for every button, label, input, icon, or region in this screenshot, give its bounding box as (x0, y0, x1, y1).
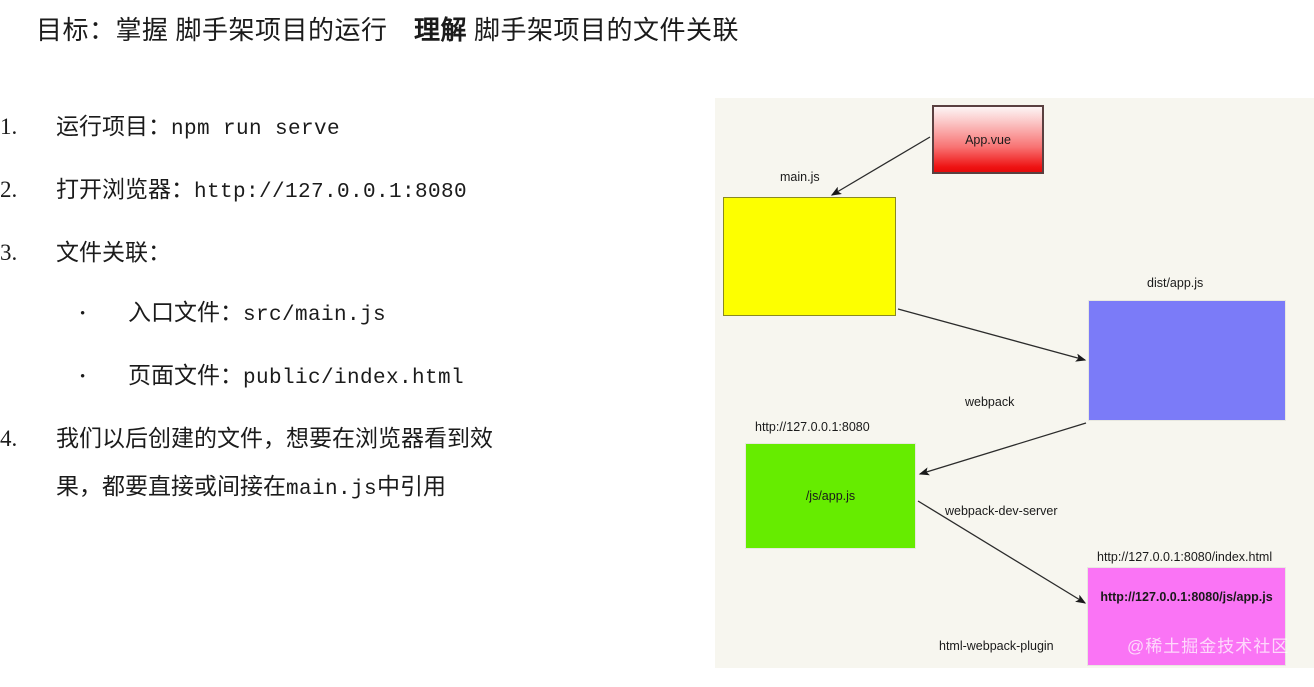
list-item-text-wrap: 果，都要直接或间接在main.js中引用 (56, 470, 493, 507)
diagram-edge-label-webpack: webpack (965, 395, 1014, 409)
list-item-marker: 1. (0, 110, 56, 144)
list-item-text: 入口文件：src/main.js (128, 296, 386, 333)
list-item-text-code: public/index.html (243, 367, 464, 390)
arrow-mainjs-to-dist (898, 309, 1085, 360)
diagram-caption-index-html: http://127.0.0.1:8080/index.html (1097, 550, 1272, 564)
watermark: @稀土掘金技术社区 (1127, 632, 1289, 657)
diagram-node-js-app-js-label: /js/app.js (806, 489, 855, 503)
diagram-node-app-vue[interactable]: App.vue (932, 105, 1044, 174)
diagram-node-dist-app-js[interactable] (1088, 300, 1286, 421)
list-item-text: 文件关联： (56, 236, 171, 270)
page-title: 目标：掌握 脚手架项目的运行 理解 脚手架项目的文件关联 (36, 10, 739, 47)
list-item-sub: • 入口文件：src/main.js (0, 296, 690, 333)
diagram-node-app-vue-label: App.vue (965, 133, 1011, 147)
list-item-text-code: src/main.js (243, 304, 386, 327)
diagram-edge-label-html-webpack-plugin: html-webpack-plugin (939, 639, 1054, 653)
diagram-node-main-js[interactable] (723, 197, 896, 316)
list-item-text: 页面文件：public/index.html (128, 359, 464, 396)
outline-list: 1. 运行项目：npm run serve 2. 打开浏览器：http://12… (0, 110, 690, 533)
list-item-sub: • 页面文件：public/index.html (0, 359, 690, 396)
list-item-marker: 3. (0, 236, 56, 270)
list-item-text-cn: 运行项目： (56, 114, 171, 139)
diagram-node-js-app-js[interactable]: /js/app.js (745, 443, 916, 549)
page-title-gap (388, 16, 415, 45)
list-item-bullet-icon: • (80, 359, 128, 395)
list-item-text-cn: 文件关联： (56, 240, 171, 265)
list-item-text-code: http://127.0.0.1:8080 (194, 181, 467, 204)
diagram-edge-label-webpack-dev-server: webpack-dev-server (945, 504, 1058, 518)
list-item-text: 我们以后创建的文件，想要在浏览器看到效果，都要直接或间接在main.js中引用 (56, 422, 493, 507)
arrow-dist-to-jsapp (920, 423, 1086, 474)
diagram-caption-main-js: main.js (780, 170, 820, 184)
list-item-text-cn: 页面文件： (128, 363, 243, 388)
page-title-part1: 目标：掌握 脚手架项目的运行 (36, 16, 388, 45)
diagram-caption-js-app-js: http://127.0.0.1:8080 (755, 420, 870, 434)
list-item: 2. 打开浏览器：http://127.0.0.1:8080 (0, 173, 690, 210)
list-item-text-cn: 我们以后创建的文件，想要在浏览器看到效 (56, 426, 493, 451)
list-item-text-code: npm run serve (171, 118, 340, 141)
list-item-text: 运行项目：npm run serve (56, 110, 340, 147)
diagram-caption-dist-app-js: dist/app.js (1147, 276, 1203, 290)
list-item-bullet-icon: • (80, 296, 128, 332)
architecture-diagram: App.vue main.js dist/app.js http://127.0… (715, 98, 1314, 668)
list-item: 3. 文件关联： (0, 236, 690, 270)
list-item-text-wrap-cn: 果，都要直接或间接在 (56, 474, 286, 499)
list-item-text-wrap-code: main.js (286, 478, 377, 501)
list-item-text-cn: 打开浏览器： (56, 177, 194, 202)
list-item-marker: 4. (0, 422, 56, 456)
list-item: 1. 运行项目：npm run serve (0, 110, 690, 147)
list-item-text: 打开浏览器：http://127.0.0.1:8080 (56, 173, 467, 210)
list-item: 4. 我们以后创建的文件，想要在浏览器看到效果，都要直接或间接在main.js中… (0, 422, 690, 507)
arrow-appvue-to-mainjs (832, 137, 930, 195)
list-item-marker: 2. (0, 173, 56, 207)
page-title-part2: 理解 (414, 16, 467, 45)
list-item-text-wrap-cn2: 中引用 (377, 474, 446, 499)
diagram-node-index-html-label: http://127.0.0.1:8080/js/app.js (1100, 590, 1272, 604)
page-title-part3: 脚手架项目的文件关联 (467, 16, 739, 45)
list-item-text-cn: 入口文件： (128, 300, 243, 325)
